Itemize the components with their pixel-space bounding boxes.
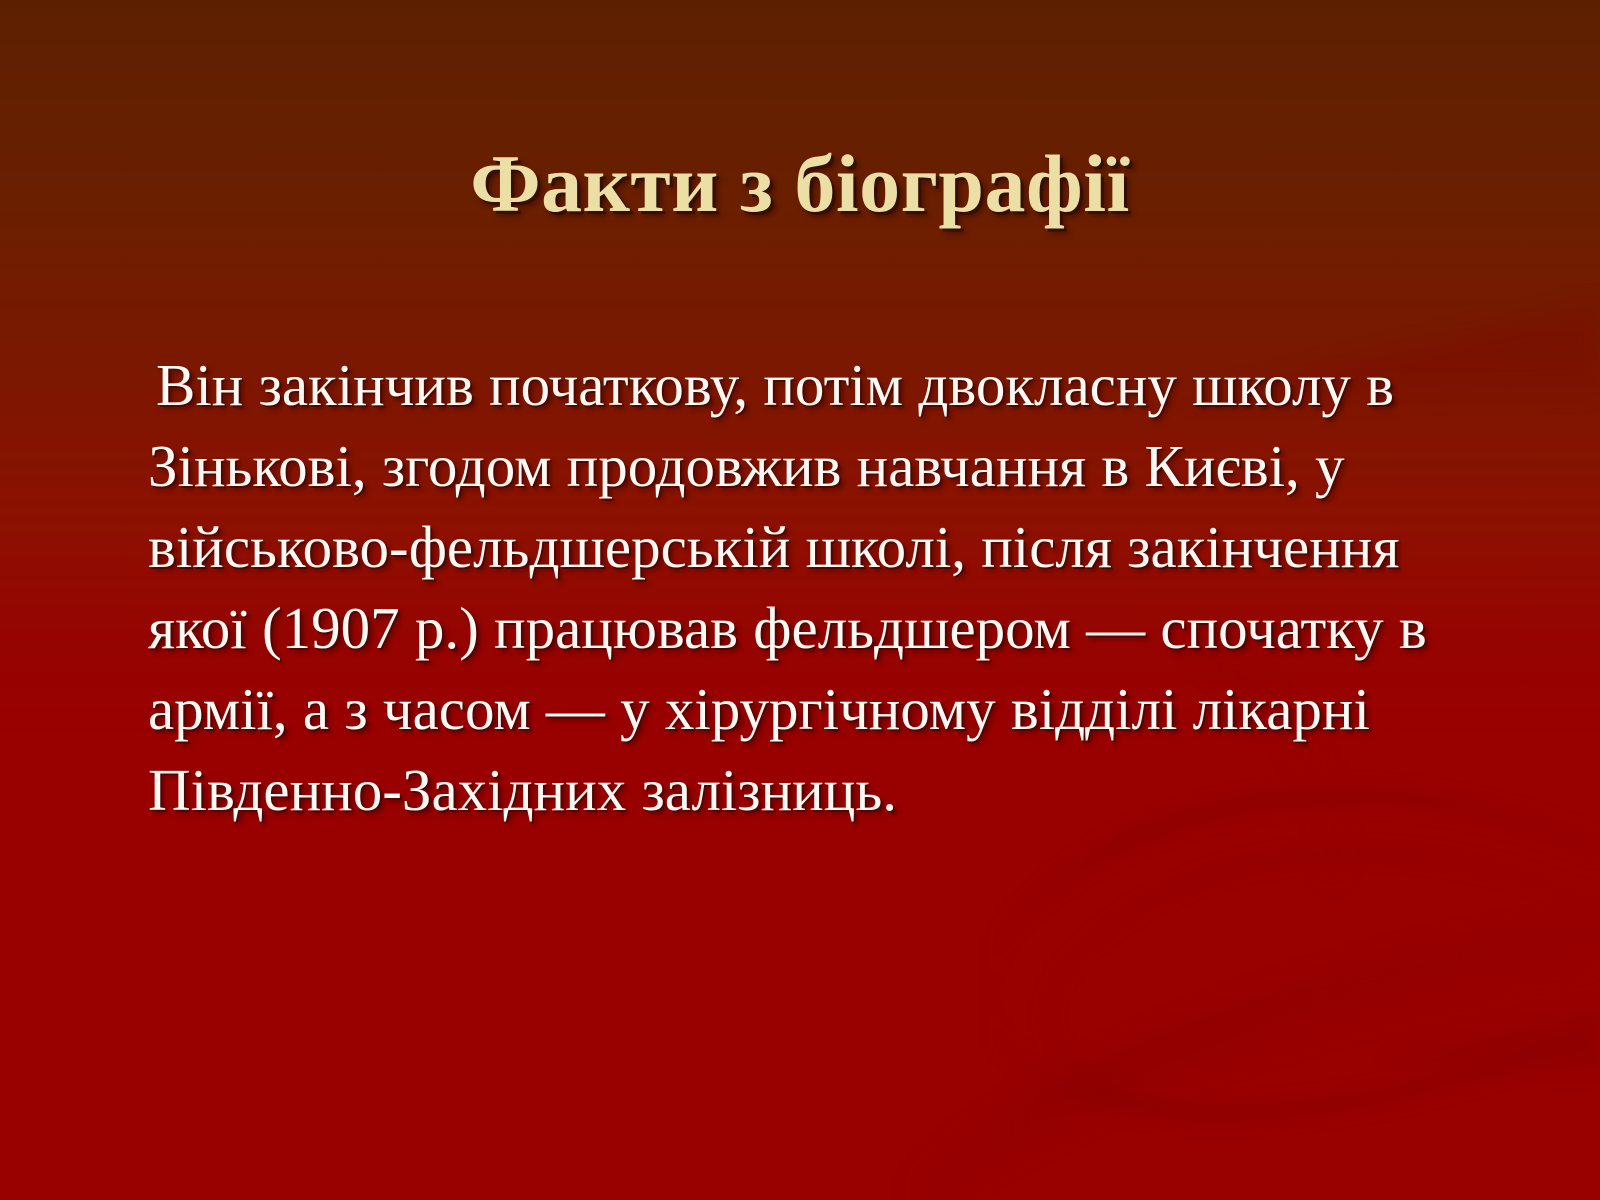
slide-title-container: Факти з біографії	[0, 86, 1600, 281]
presentation-slide: Факти з біографії Він закінчив початкову…	[0, 0, 1600, 1200]
slide-body-container: Він закінчив початкову, потім двокласну …	[148, 286, 1478, 890]
page-title: Факти з біографії	[470, 141, 1130, 226]
slide-body-paragraph: Він закінчив початкову, потім двокласну …	[148, 345, 1478, 831]
